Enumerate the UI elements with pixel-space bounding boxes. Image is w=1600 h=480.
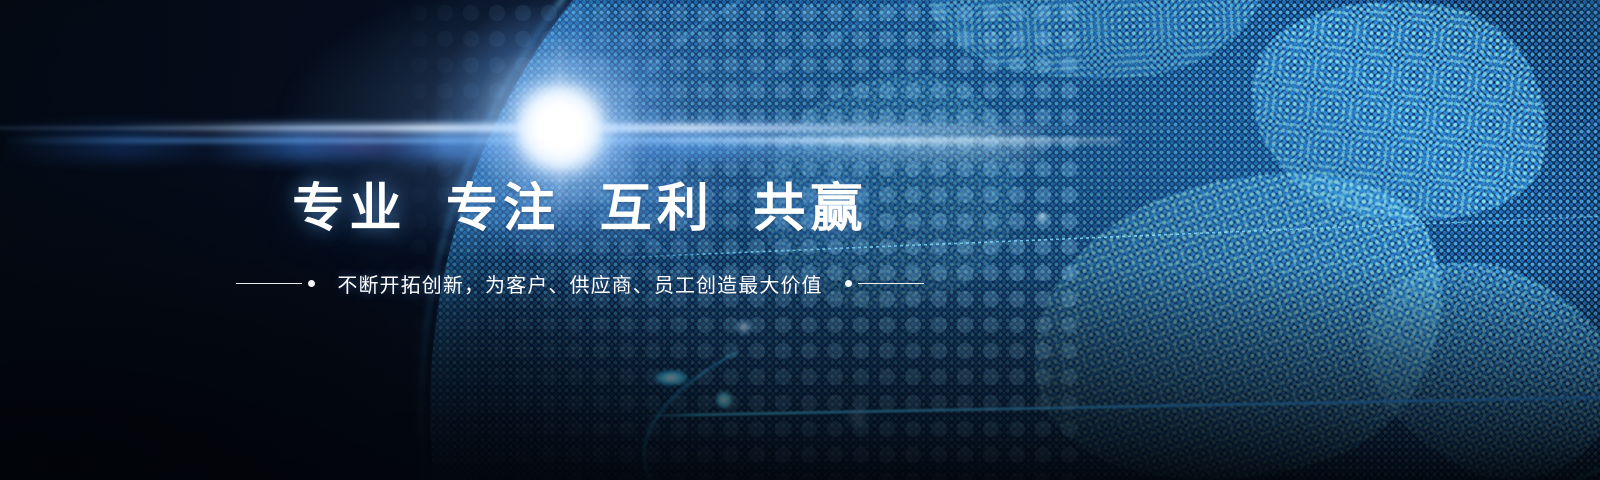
subtitle-decoration-right (845, 280, 924, 287)
banner-text-block: 专业 专注 互利 共赢 不断开拓创新，为客户、供应商、员工创造最大价值 (0, 0, 1160, 480)
hero-banner: 专业 专注 互利 共赢 不断开拓创新，为客户、供应商、员工创造最大价值 (0, 0, 1600, 480)
decoration-line (858, 283, 924, 284)
decoration-dot (308, 280, 315, 287)
banner-headline: 专业 专注 互利 共赢 (292, 183, 867, 235)
banner-subtitle-row: 不断开拓创新，为客户、供应商、员工创造最大价值 (236, 269, 923, 298)
subtitle-decoration-left (236, 280, 315, 287)
banner-subtitle: 不断开拓创新，为客户、供应商、员工创造最大价值 (337, 269, 822, 298)
decoration-line (236, 283, 302, 284)
decoration-dot (845, 280, 852, 287)
